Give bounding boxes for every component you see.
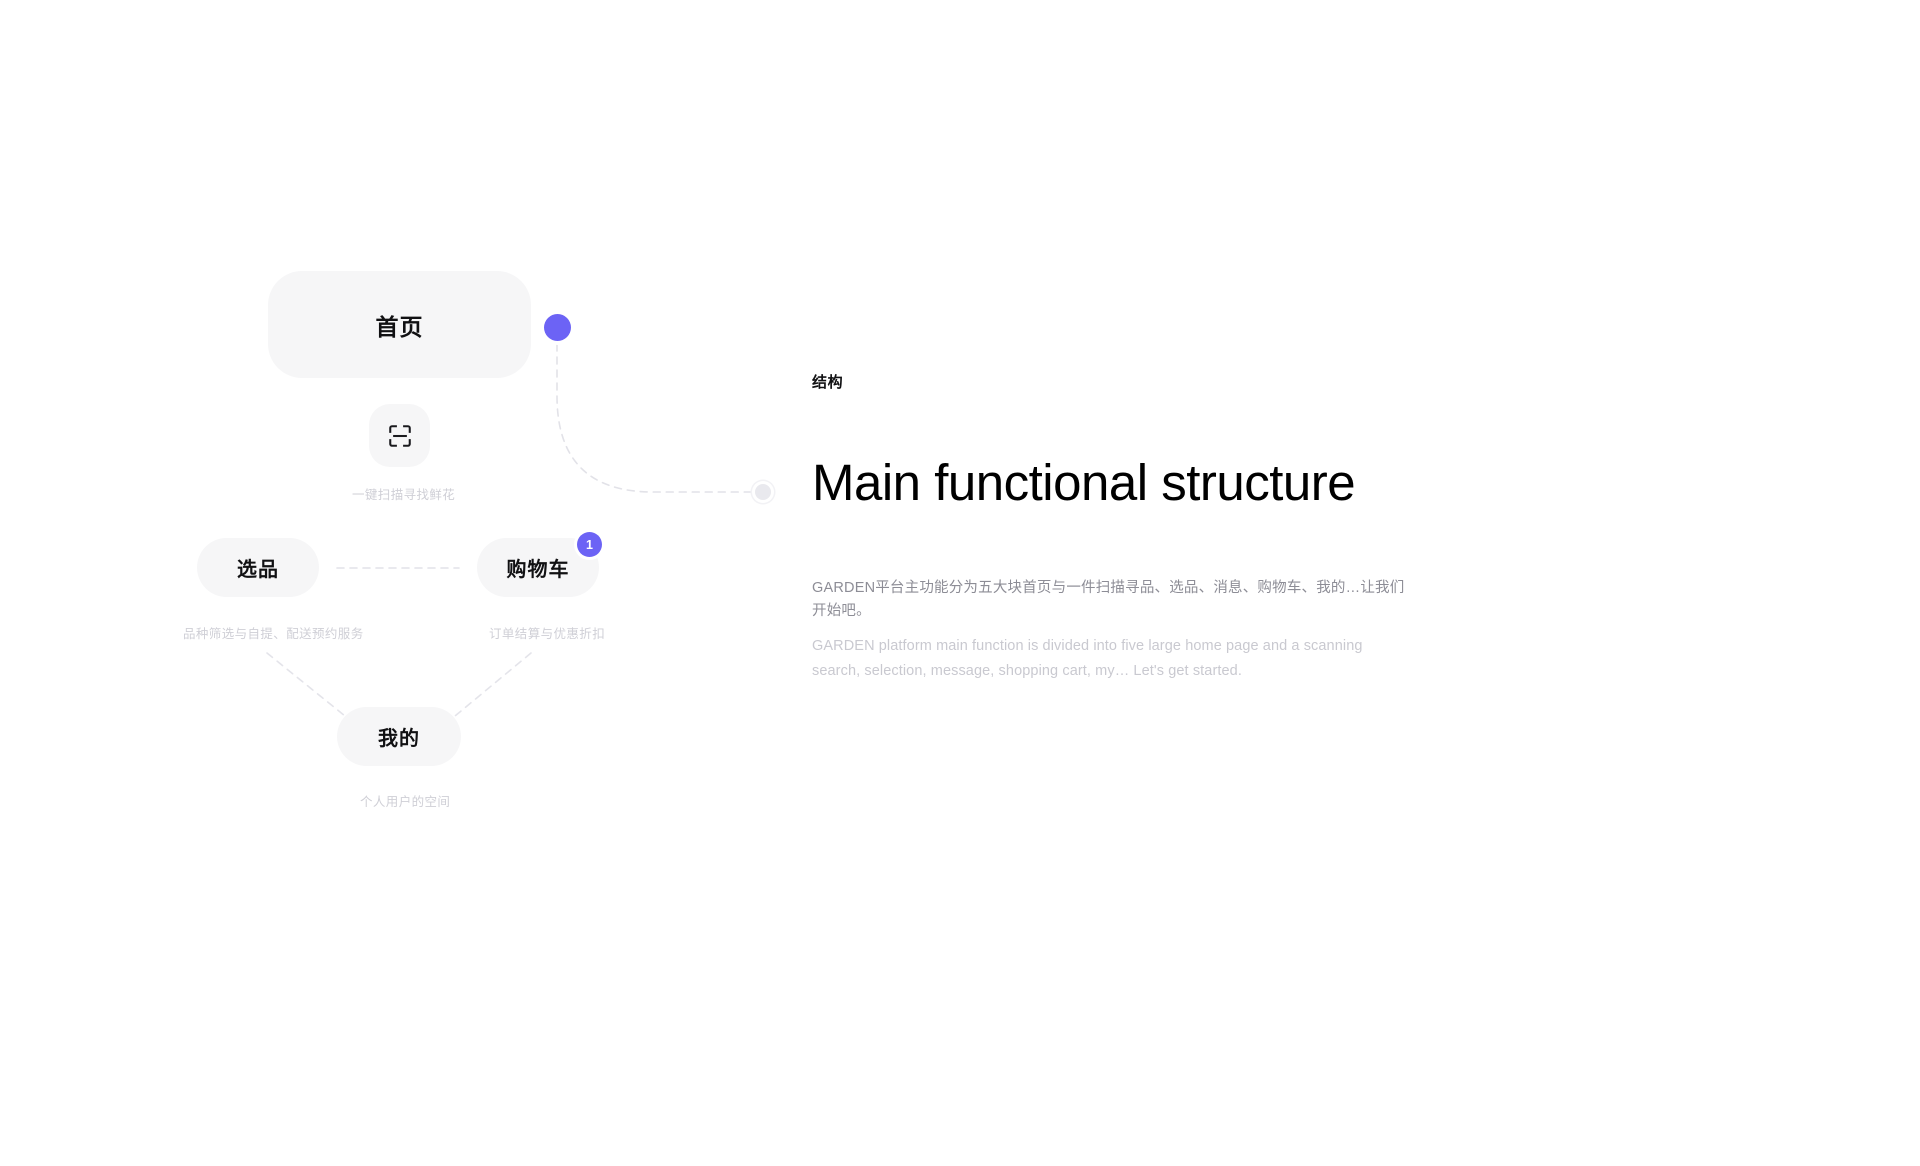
node-cart-label: 购物车 — [507, 553, 570, 582]
page-canvas: 首页 一键扫描寻找鲜花 选品 品种筛选与自提、配送预约服务 购物车 1 订单 — [0, 0, 1920, 1166]
node-home-label: 首页 — [376, 308, 424, 342]
section-eyebrow: 结构 — [812, 371, 1412, 392]
description-chinese: GARDEN平台主功能分为五大块首页与一件扫描寻品、选品、消息、购物车、我的…让… — [812, 577, 1412, 623]
description-english: GARDEN platform main function is divided… — [812, 634, 1392, 684]
node-mine[interactable]: 我的 — [337, 707, 461, 766]
scan-icon — [387, 423, 413, 449]
page-title: Main functional structure — [812, 455, 1412, 511]
cart-count-badge: 1 — [577, 532, 602, 557]
edge-select-to-mine — [267, 653, 345, 716]
text-panel: 结构 Main functional structure GARDEN平台主功能… — [812, 371, 1412, 684]
home-anchor-dot[interactable] — [544, 314, 571, 341]
caption-select: 品种筛选与自提、配送预约服务 — [183, 623, 364, 642]
caption-cart: 订单结算与优惠折扣 — [489, 623, 605, 642]
caption-scan: 一键扫描寻找鲜花 — [352, 484, 455, 503]
node-select-label: 选品 — [237, 553, 279, 582]
edge-home-to-endpoint — [557, 344, 752, 492]
node-home[interactable]: 首页 — [268, 271, 531, 378]
caption-mine: 个人用户的空间 — [360, 791, 450, 810]
edge-cart-to-mine — [455, 653, 531, 716]
curve-end-dot[interactable] — [755, 484, 771, 500]
node-mine-label: 我的 — [378, 722, 420, 751]
node-scan[interactable] — [369, 404, 430, 467]
node-select[interactable]: 选品 — [197, 538, 319, 597]
